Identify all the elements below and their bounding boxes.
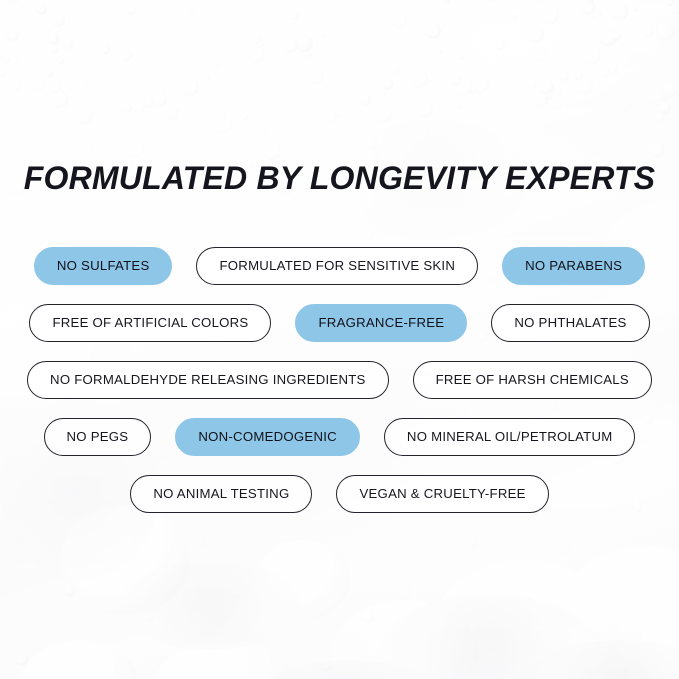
- claims-row: NO PEGSNON-COMEDOGENICNO MINERAL OIL/PET…: [0, 418, 679, 456]
- claim-badge-label: NON-COMEDOGENIC: [198, 430, 337, 443]
- claim-badge-label: NO ANIMAL TESTING: [153, 487, 289, 500]
- claim-badge-label: VEGAN & CRUELTY-FREE: [359, 487, 525, 500]
- claim-badge: FREE OF HARSH CHEMICALS: [413, 361, 652, 399]
- product-claims-graphic: FORMULATED BY LONGEVITY EXPERTS NO SULFA…: [0, 0, 679, 679]
- page-title: FORMULATED BY LONGEVITY EXPERTS: [0, 160, 679, 197]
- claim-badge: FRAGRANCE-FREE: [295, 304, 467, 342]
- claims-row: FREE OF ARTIFICIAL COLORSFRAGRANCE-FREEN…: [0, 304, 679, 342]
- claim-badge-label: NO PHTHALATES: [514, 316, 626, 329]
- claim-badge: NON-COMEDOGENIC: [175, 418, 360, 456]
- claim-badge-label: NO MINERAL OIL/PETROLATUM: [407, 430, 613, 443]
- claim-badge: FORMULATED FOR SENSITIVE SKIN: [196, 247, 478, 285]
- claim-badge: FREE OF ARTIFICIAL COLORS: [29, 304, 271, 342]
- claim-badge: NO FORMALDEHYDE RELEASING INGREDIENTS: [27, 361, 389, 399]
- claim-badge-label: NO PARABENS: [525, 259, 622, 272]
- claims-row: NO ANIMAL TESTINGVEGAN & CRUELTY-FREE: [0, 475, 679, 513]
- claim-badge: NO SULFATES: [34, 247, 173, 285]
- claim-badge-label: NO SULFATES: [57, 259, 150, 272]
- claim-badge-label: NO PEGS: [67, 430, 129, 443]
- claim-badge: NO MINERAL OIL/PETROLATUM: [384, 418, 636, 456]
- claim-badge: VEGAN & CRUELTY-FREE: [336, 475, 548, 513]
- claim-badge-label: FREE OF ARTIFICIAL COLORS: [52, 316, 248, 329]
- claims-row: NO FORMALDEHYDE RELEASING INGREDIENTSFRE…: [0, 361, 679, 399]
- claim-badge: NO PHTHALATES: [491, 304, 649, 342]
- claim-badge-label: FRAGRANCE-FREE: [318, 316, 444, 329]
- claims-row: NO SULFATESFORMULATED FOR SENSITIVE SKIN…: [0, 247, 679, 285]
- claims-badge-grid: NO SULFATESFORMULATED FOR SENSITIVE SKIN…: [0, 247, 679, 532]
- claim-badge: NO PEGS: [44, 418, 152, 456]
- content-area: FORMULATED BY LONGEVITY EXPERTS NO SULFA…: [0, 0, 679, 679]
- claim-badge-label: NO FORMALDEHYDE RELEASING INGREDIENTS: [50, 373, 366, 386]
- claim-badge: NO PARABENS: [502, 247, 645, 285]
- claim-badge-label: FORMULATED FOR SENSITIVE SKIN: [219, 259, 455, 272]
- claim-badge-label: FREE OF HARSH CHEMICALS: [436, 373, 629, 386]
- claim-badge: NO ANIMAL TESTING: [130, 475, 312, 513]
